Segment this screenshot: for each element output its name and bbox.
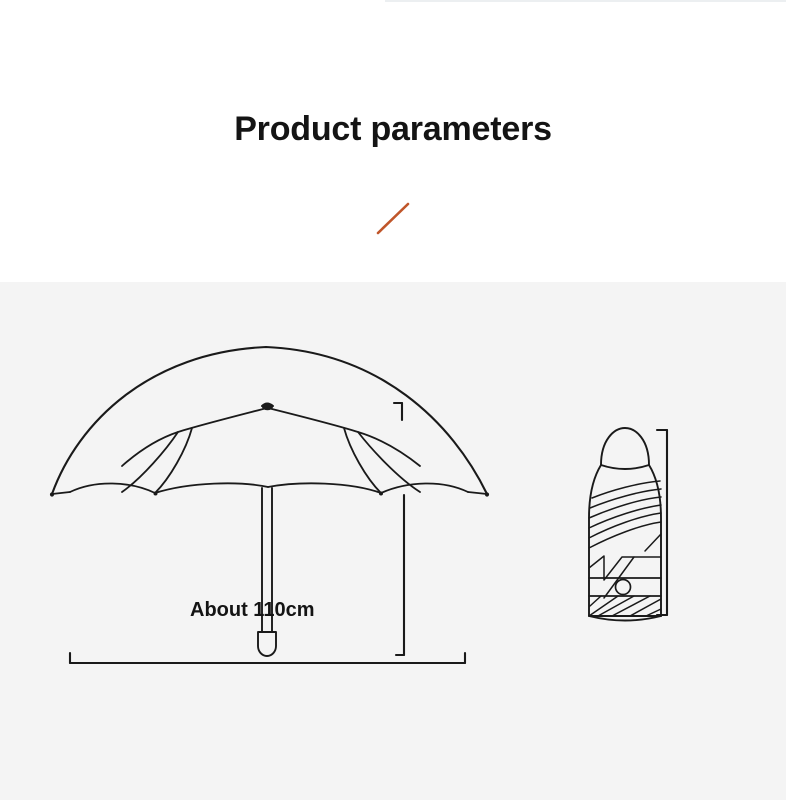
- top-edge-seam: [385, 0, 786, 2]
- product-parameters-page: Product parameters: [0, 0, 786, 800]
- folded-umbrella-illustration: [589, 428, 661, 621]
- dimension-line-95cm: [70, 653, 465, 663]
- diagonal-slash-icon: [371, 196, 415, 240]
- page-title: Product parameters: [0, 106, 786, 152]
- diagram-panel: About 110cm About 95cm About 54cm About …: [0, 282, 786, 800]
- umbrella-dimension-diagram: [0, 282, 786, 800]
- dimension-line-54cm: [394, 403, 404, 655]
- dimension-label-110cm: About 110cm: [190, 599, 314, 621]
- header-band: Product parameters: [0, 0, 786, 282]
